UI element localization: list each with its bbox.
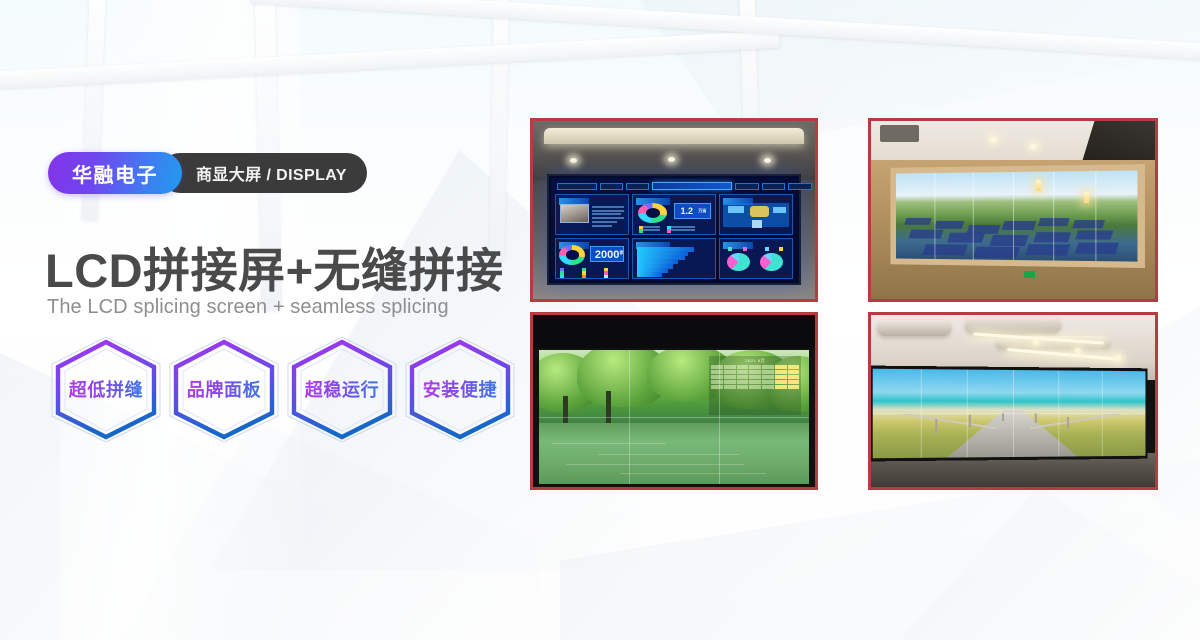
dashboard-panel-grid: 1.2 万亩 xyxy=(555,194,793,279)
panel-seam xyxy=(873,413,1146,414)
photo-image xyxy=(871,315,1155,487)
feature-hexagon-4: 安装便捷 xyxy=(404,336,516,442)
dashboard-panel-pie-pair xyxy=(719,238,794,279)
dashboard-header xyxy=(555,180,793,191)
photo-beach-boardwalk-video-wall[interactable] xyxy=(868,312,1158,490)
lcd-video-wall: 1.2 万亩 xyxy=(547,174,801,284)
brand-pill-row: 华融电子 商显大屏 / DISPLAY xyxy=(48,152,367,194)
lcd-video-wall xyxy=(871,365,1147,461)
feature-hexagon-row: 超低拼缝 品牌面板 xyxy=(50,336,522,442)
dashboard-panel-supply-chain xyxy=(719,194,794,235)
product-banner: 华融电子 商显大屏 / DISPLAY LCD拼接屏+无缝拼接 The LCD … xyxy=(0,0,1200,640)
page-subtitle: The LCD splicing screen + seamless splic… xyxy=(47,296,449,319)
room-dark-ceiling xyxy=(533,315,815,349)
photo-solar-farm-video-wall[interactable] xyxy=(868,118,1158,302)
photo-image: 2021 6月 xyxy=(533,315,815,487)
feature-label: 超稳运行 xyxy=(305,376,379,402)
exit-sign-icon xyxy=(1024,271,1035,278)
feature-label: 超低拼缝 xyxy=(69,376,143,402)
lcd-video-wall: 2021 6月 xyxy=(539,350,810,484)
dashboard-panel-bar-table xyxy=(632,238,715,279)
lcd-video-wall-bezel: 2021 6月 xyxy=(533,348,815,487)
downlight xyxy=(1033,339,1039,345)
downlight xyxy=(1115,355,1121,361)
dashboard-panel-resource-donut: 1.2 万亩 xyxy=(632,194,715,235)
header-chip xyxy=(557,183,597,190)
wall-lamp xyxy=(1036,180,1041,191)
panel-seam xyxy=(973,172,974,259)
feature-hexagon-2: 品牌面板 xyxy=(168,336,280,442)
banner-text-column: 华融电子 商显大屏 / DISPLAY LCD拼接屏+无缝拼接 The LCD … xyxy=(0,0,520,640)
calendar-grid xyxy=(711,365,799,389)
ceiling-cove-light xyxy=(544,128,803,144)
category-tag: 商显大屏 / DISPLAY xyxy=(160,153,367,193)
wall-frame xyxy=(891,164,1145,268)
header-chip xyxy=(626,183,649,190)
dashboard-panel-capability xyxy=(555,194,629,235)
ceiling-vent xyxy=(880,125,920,143)
header-chip xyxy=(735,183,758,190)
dashboard-title-plate xyxy=(652,182,732,190)
product-photo-gallery: 1.2 万亩 xyxy=(530,118,1160,490)
feature-hexagon-3: 超稳运行 xyxy=(286,336,398,442)
wall-lamp xyxy=(1084,192,1089,203)
photo-image: 1.2 万亩 xyxy=(533,121,815,299)
header-chip xyxy=(762,183,785,190)
feature-hexagon-1: 超低拼缝 xyxy=(50,336,162,442)
panel-seam xyxy=(539,417,810,418)
feature-label: 品牌面板 xyxy=(187,376,261,402)
calendar-overlay: 2021 6月 xyxy=(709,356,801,415)
page-title: LCD拼接屏+无缝拼接 xyxy=(45,232,504,301)
calendar-title: 2021 6月 xyxy=(711,358,799,364)
feature-label: 安装便捷 xyxy=(423,376,497,402)
beach-scene xyxy=(873,368,1146,458)
bg-polygon-g xyxy=(900,470,1200,640)
photo-willow-lake-video-wall[interactable]: 2021 6月 xyxy=(530,312,818,490)
header-chip xyxy=(600,183,623,190)
dashboard-panel-area-donut: 2000 家 xyxy=(555,238,629,279)
brand-badge: 华融电子 xyxy=(48,152,182,194)
lcd-video-wall xyxy=(897,170,1138,261)
dashboard-screen: 1.2 万亩 xyxy=(551,178,797,280)
header-chip xyxy=(788,183,811,190)
photo-dashboard-video-wall[interactable]: 1.2 万亩 xyxy=(530,118,818,302)
ceiling-spotlight xyxy=(668,157,675,162)
photo-image xyxy=(871,121,1155,299)
ceiling-slat xyxy=(877,320,951,335)
ceiling-slat xyxy=(965,317,1062,334)
